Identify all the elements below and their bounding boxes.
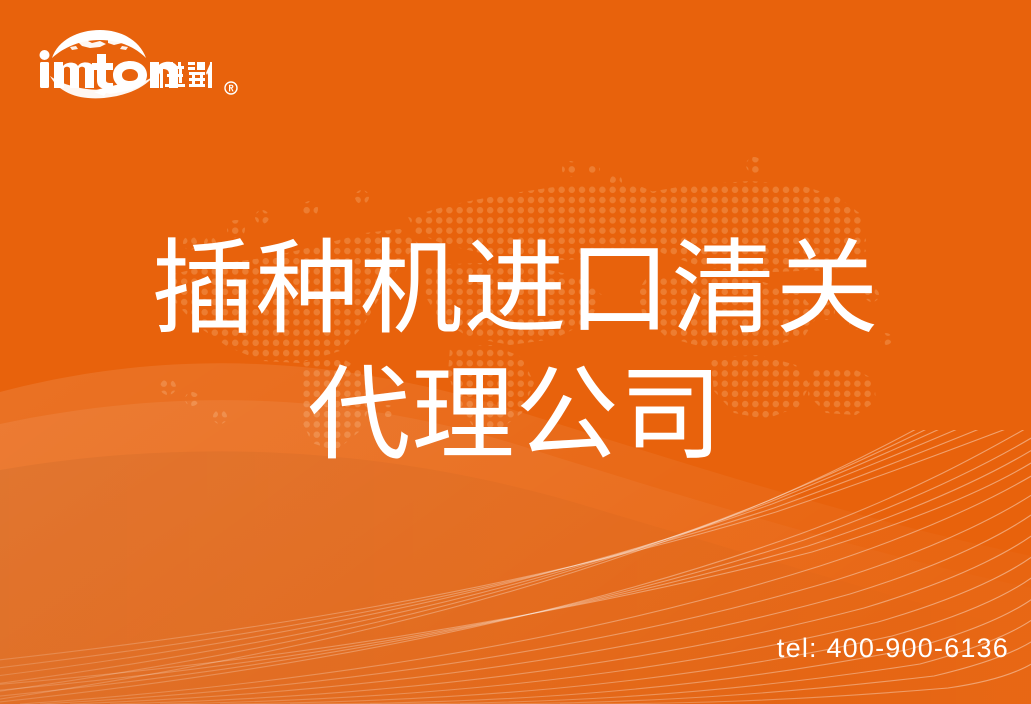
headline-line-1: 插种机进口清关 [0,226,1031,352]
globe-swoosh-icon [34,28,214,100]
registered-trademark-icon [224,81,238,95]
brand-logo[interactable] [34,28,214,100]
headline-line-2: 代理公司 [0,352,1031,478]
promo-banner: 插种机进口清关 代理公司 tel: 400-900-6136 [0,0,1031,704]
contact-phone[interactable]: tel: 400-900-6136 [777,633,1009,664]
page-title: 插种机进口清关 代理公司 [0,226,1031,478]
